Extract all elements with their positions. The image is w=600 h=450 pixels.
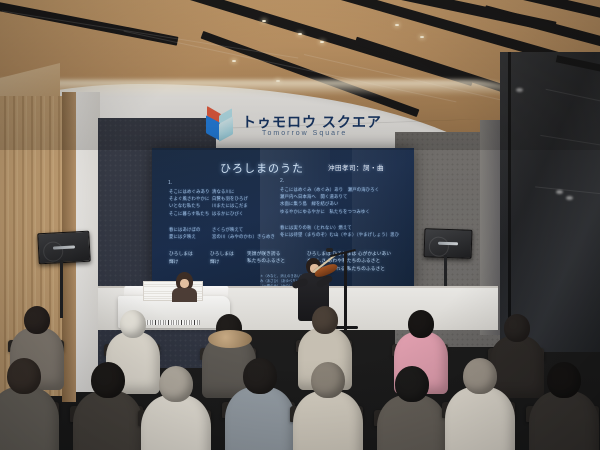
audience-member-coat xyxy=(0,387,59,450)
audience-member-head xyxy=(120,310,146,338)
venue-logo: トゥモロウ スクエア Tomorrow Square xyxy=(196,108,384,148)
lyric-verse2-lower: 春には実りの秋（とれない）燃えて 冬には待望（まちのぞ）む山（やま）（やまげしょ… xyxy=(280,224,399,238)
audience-member-head xyxy=(547,362,581,398)
speaker-right xyxy=(424,228,473,259)
audience-member-coat xyxy=(225,387,295,450)
song-title: ひろしまのうた xyxy=(220,160,304,176)
cube-logo-icon xyxy=(204,110,234,142)
audience-member-head xyxy=(159,366,193,402)
speaker-tweeter xyxy=(438,242,458,246)
ceiling-spotlight xyxy=(298,33,302,35)
pianist-face xyxy=(180,279,189,288)
audience-member-head xyxy=(243,358,277,394)
lyric-verse1-col2: 清なる川に 白鷺も羽をひろげ 川またにはこだま はるかにひびく xyxy=(212,188,248,217)
lyric-verse1-lower-col1: 春にはあけぼの 夏には夕映え xyxy=(169,226,200,240)
audience-member-head xyxy=(91,362,125,398)
audience-member-head xyxy=(312,306,338,334)
chorus-line-2: 輝け xyxy=(169,258,179,265)
ceiling-spotlight xyxy=(395,24,399,26)
audience-member-head xyxy=(504,314,530,342)
audience-member-head xyxy=(311,362,345,398)
audience-member-coat xyxy=(141,395,211,450)
ceiling-spotlight xyxy=(320,41,324,43)
ceiling-spotlight xyxy=(420,36,424,38)
verse-marker-1: 1. xyxy=(168,180,172,186)
chorus-line-1: ひろしまは xyxy=(169,250,193,257)
speaker-tweeter xyxy=(53,245,75,249)
speaker-cone xyxy=(428,236,449,257)
glass-reflection xyxy=(516,88,523,92)
lyric-verse1-col1: そこにはめぐみあり そよぐ風さわやかに いとなむ私たち そこに暮らす私たち xyxy=(169,188,210,217)
glass-reflection xyxy=(556,190,563,194)
audience-member-coat xyxy=(73,391,143,450)
audience-member-head xyxy=(463,358,497,394)
audience-member-coat xyxy=(377,395,447,450)
venue-name-jp: トゥモロウ スクエア xyxy=(242,112,382,132)
speaker-left xyxy=(37,231,91,265)
photo-scene: トゥモロウ スクエア Tomorrow Square ひろしまのうた 沖田孝司：… xyxy=(0,0,600,450)
audience-member-head xyxy=(7,358,41,394)
microphone-icon xyxy=(326,248,333,252)
song-credit: 沖田孝司：詞・曲 xyxy=(328,162,384,172)
audience-member-head xyxy=(24,306,50,334)
lyric-verse1-lower-col2: さくらが映えて 宮の川（みやのかわ）きらめき xyxy=(212,226,275,240)
ceiling-spotlight xyxy=(262,20,266,22)
screen-surface: ひろしまのうた 沖田孝司：詞・曲 1. 2. そこにはめぐみあり そよぐ風さわや… xyxy=(152,148,414,288)
fur-hood xyxy=(208,330,252,348)
venue-name-en: Tomorrow Square xyxy=(262,130,347,137)
verse-marker-2: 2. xyxy=(280,178,284,184)
audience-member-coat xyxy=(529,391,599,450)
audience-area xyxy=(0,300,600,450)
glass-reflection xyxy=(566,196,573,200)
audience-member-coat xyxy=(445,387,515,450)
ceiling-light-channel xyxy=(0,0,178,46)
audience-member-head xyxy=(395,366,429,402)
audience-member-head xyxy=(408,310,434,338)
lyric-verse2: そこにはめぐみ（めぐみ）あり 瀬戸の海ひろく 瀬戸内へ日本海へ 開く道ありて 水… xyxy=(280,186,379,215)
chorus-line-4: 輝け xyxy=(210,258,220,265)
ceiling-spotlight xyxy=(232,60,236,62)
speaker-cone xyxy=(43,241,64,262)
audience-member-coat xyxy=(293,391,363,450)
projection-screen: ひろしまのうた 沖田孝司：詞・曲 1. 2. そこにはめぐみあり そよぐ風さわや… xyxy=(152,148,414,288)
chorus-line-3: ひろしまは xyxy=(210,250,234,257)
chorus-right-1: 笑顔が咲き誇る 私たちのふるさと xyxy=(247,250,285,265)
